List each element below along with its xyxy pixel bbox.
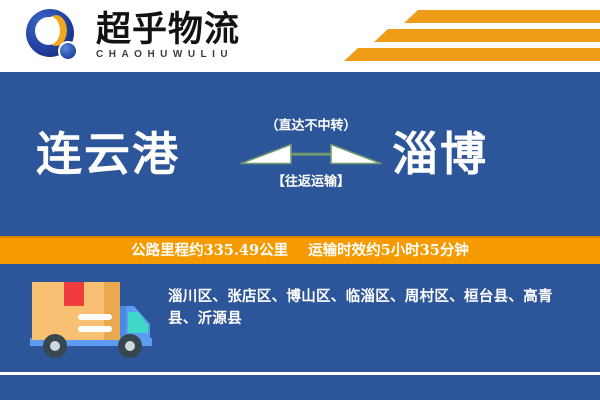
banner-header: 超乎物流 CHAOHUWULIU [0, 0, 600, 72]
destination-city: 淄博 [392, 131, 488, 177]
route-panel: 连云港 （直达不中转） 【往返运输】 淄博 [0, 72, 600, 236]
brand-name-cn: 超乎物流 [96, 12, 240, 47]
delivery-truck-icon [22, 276, 156, 360]
route-middle-block: （直达不中转） 【往返运输】 [236, 120, 386, 189]
coverage-districts-text: 淄川区、张店区、博山区、临淄区、周村区、桓台县、高青县、沂源县 [168, 286, 582, 330]
route-info-bar: 公路里程约335.49公里 运输时效约5小时35分钟 [0, 236, 600, 264]
duration-label: 运输时效约5小时35分钟 [308, 244, 469, 259]
stripe-3 [344, 48, 600, 61]
decorative-stripes [350, 8, 600, 66]
banner-footer [0, 375, 600, 400]
stripe-1 [404, 10, 600, 23]
logo-dot-shape [58, 41, 78, 61]
brand-logo-block: 超乎物流 CHAOHUWULIU [24, 7, 240, 65]
circle-crescent-logo-icon [24, 7, 86, 65]
coverage-panel: 淄川区、张店区、博山区、临淄区、周村区、桓台县、高青县、沂源县 [0, 264, 600, 372]
route-note-roundtrip: 【往返运输】 [272, 176, 350, 189]
brand-name-en: CHAOHUWULIU [96, 50, 240, 60]
logistics-route-banner: 超乎物流 CHAOHUWULIU 连云港 （直达不中转） 【往返运输】 淄博 公… [0, 0, 600, 400]
distance-label: 公路里程约335.49公里 [131, 244, 288, 259]
stripe-2 [374, 29, 600, 42]
origin-city: 连云港 [36, 131, 180, 177]
route-note-direct: （直达不中转） [265, 120, 356, 133]
double-headed-arrow-icon [239, 140, 383, 170]
brand-text-block: 超乎物流 CHAOHUWULIU [96, 12, 240, 60]
